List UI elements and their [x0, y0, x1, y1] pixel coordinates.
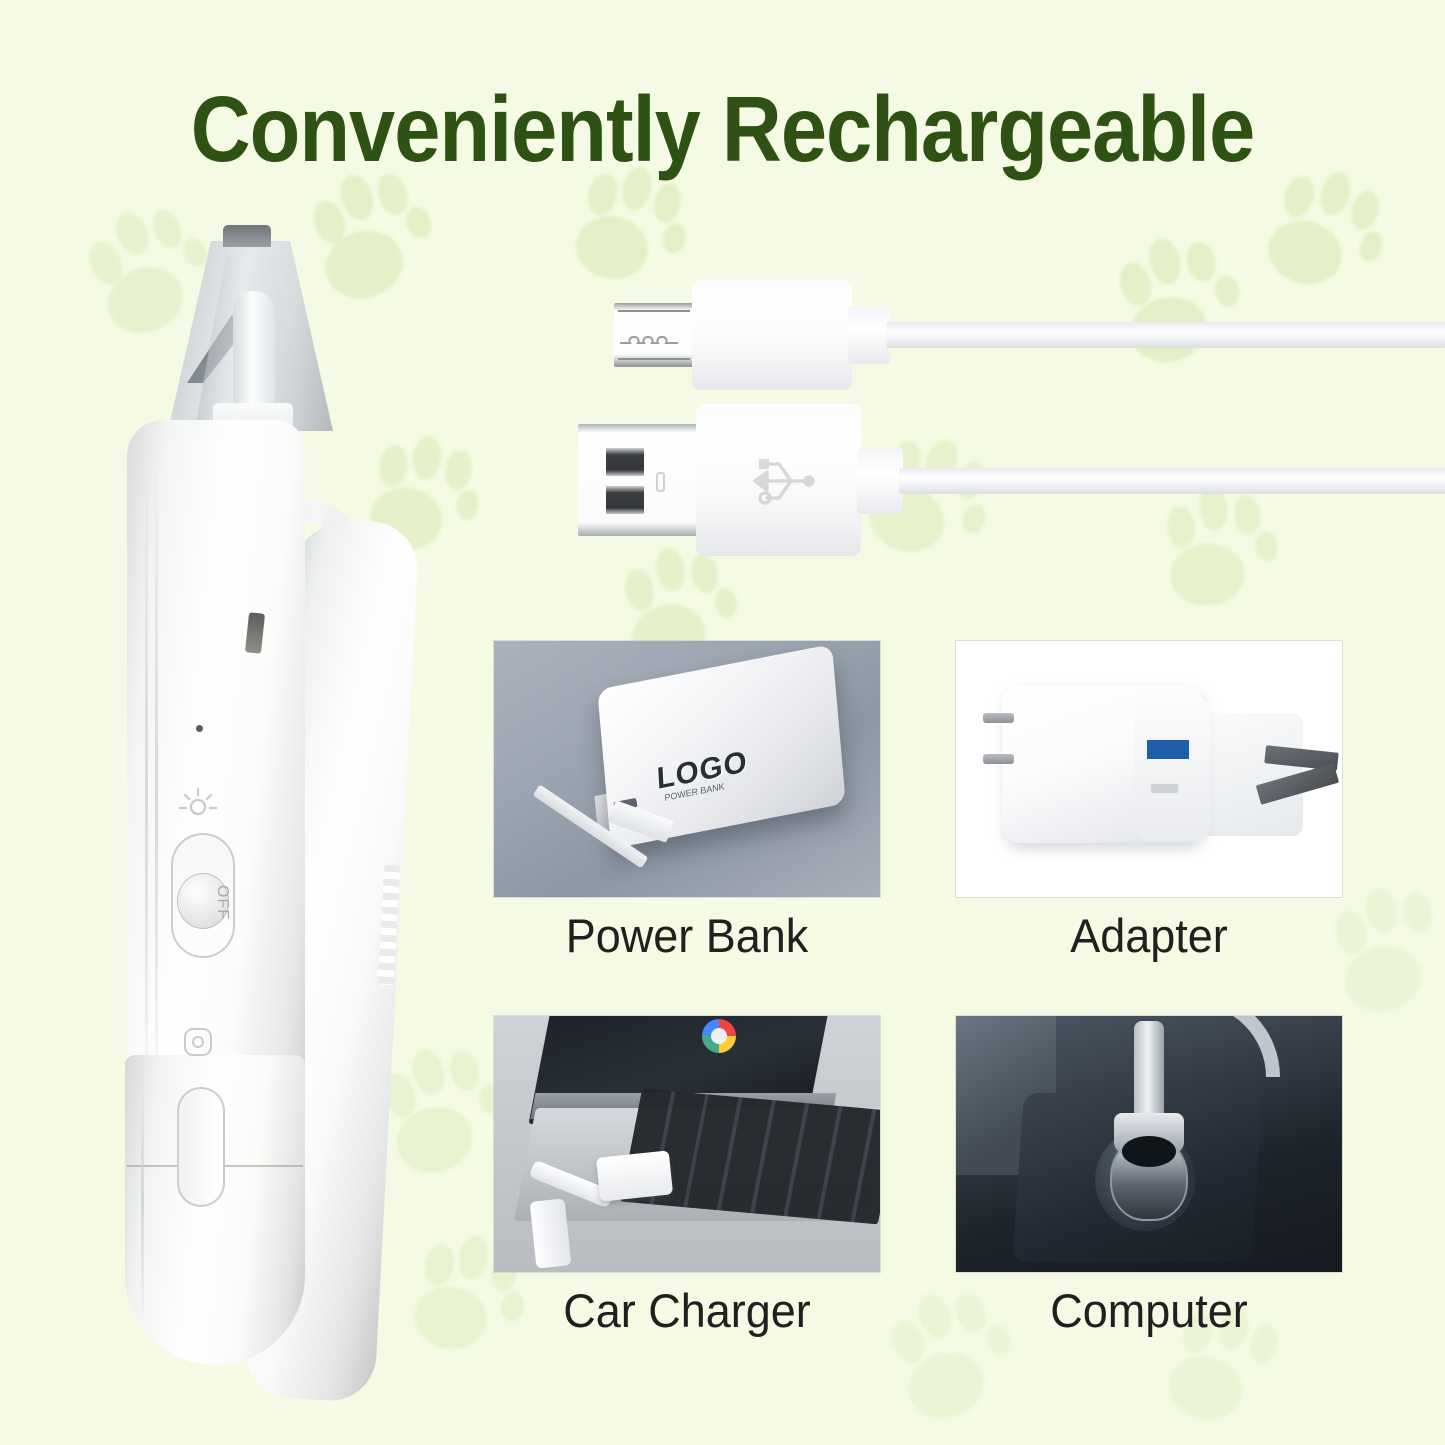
micro-usb-strain-relief	[848, 306, 890, 364]
page-title: Conveniently Rechargeable	[0, 76, 1445, 184]
adapter-usb-c-port	[1149, 782, 1180, 795]
card-label-computer: Computer	[955, 1283, 1343, 1338]
card-label-adapter: Adapter	[955, 908, 1343, 963]
wall-adapter-photo	[955, 640, 1343, 898]
usb-a-cord	[899, 468, 1445, 494]
clipper-battery-slot	[177, 1087, 225, 1207]
micro-usb-metal-shell	[614, 303, 694, 367]
clipper-nail-post	[233, 291, 275, 411]
charging-option-card: Computer	[955, 1015, 1343, 1335]
usb-a-metal-shell	[578, 424, 698, 536]
card-label-car-charger: Car Charger	[493, 1283, 881, 1338]
infographic-page: Conveniently Rechargeable	[0, 0, 1445, 1445]
chrome-logo-icon	[702, 1019, 736, 1053]
switch-off-label: OFF	[213, 885, 231, 920]
light-icon	[178, 785, 218, 825]
charging-option-card: LOGO POWER BANK Power Bank	[493, 640, 881, 960]
pet-nail-clipper-product-image: OFF	[95, 225, 435, 1365]
usb-a-strain-relief	[857, 448, 903, 514]
laptop-usb-photo	[493, 1015, 881, 1273]
charging-option-card: Adapter	[955, 640, 1343, 960]
led-indicator-icon	[196, 725, 203, 732]
power-bank-photo: LOGO POWER BANK	[493, 640, 881, 898]
card-label-power-bank: Power Bank	[493, 908, 881, 963]
micro-usb-cord	[886, 322, 1445, 348]
car-socket-photo	[955, 1015, 1343, 1273]
micro-usb-housing	[692, 280, 852, 390]
clipper-top-cap	[223, 225, 271, 247]
paw-print-icon	[1089, 214, 1271, 396]
adapter-usb-a-port	[1145, 738, 1191, 761]
charging-option-card: Car Charger	[493, 1015, 881, 1335]
paw-print-icon	[1143, 473, 1302, 632]
usb-trident-icon	[735, 448, 821, 514]
power-icon	[181, 1025, 215, 1059]
